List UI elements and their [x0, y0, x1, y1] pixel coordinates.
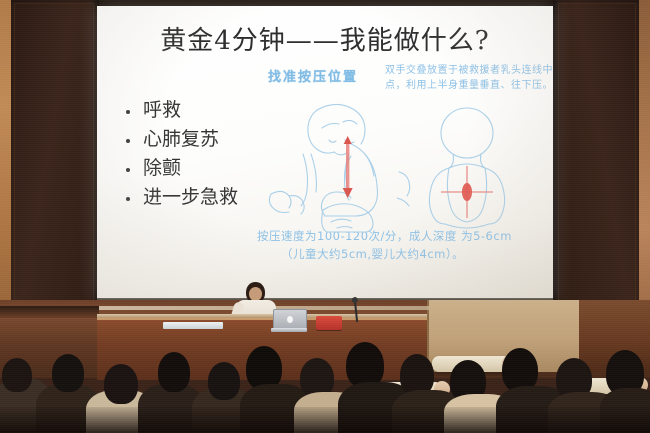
laptop-base — [271, 328, 307, 332]
papers-on-desk — [163, 322, 223, 329]
lecture-hall-photo: 黄金4分钟——我能做什么? 呼救 心肺复苏 除颤 进一步急救 找准按压位置 双手… — [0, 0, 650, 433]
slide-title: 黄金4分钟——我能做什么? — [97, 20, 553, 57]
audience-member — [208, 362, 240, 400]
left-rail — [0, 306, 99, 318]
right-dark-panel — [553, 0, 639, 312]
diagram-caption-right: 双手交叠放置于被救援者乳头连线中点，利用上半身重量垂直、往下压。 — [385, 64, 553, 93]
audience-member — [2, 358, 32, 392]
projection-screen: 黄金4分钟——我能做什么? 呼救 心肺复苏 除颤 进一步急救 找准按压位置 双手… — [97, 6, 553, 300]
audience-member — [52, 354, 84, 392]
torso-compression-point-figure-icon — [397, 106, 537, 231]
compression-point-marker-icon — [441, 166, 493, 218]
red-box-on-desk — [316, 316, 342, 330]
foreground-shadow — [0, 407, 650, 433]
caption-line-3: （儿童大约5cm,婴儿大约4cm）。 — [257, 246, 547, 264]
laptop-screen — [273, 309, 307, 330]
seated-audience — [0, 344, 650, 433]
audience-member — [158, 352, 190, 392]
left-dark-panel — [11, 0, 99, 312]
audience-member — [104, 364, 138, 404]
caption-line-2: 为5-6cm — [461, 229, 512, 243]
open-laptop-on-desk — [271, 309, 307, 333]
compression-arrow-icon — [343, 136, 353, 198]
diagram-caption-title: 找准按压位置 — [268, 66, 358, 85]
rescuer-compression-figure-icon — [265, 94, 405, 234]
presenter-face — [249, 287, 262, 301]
